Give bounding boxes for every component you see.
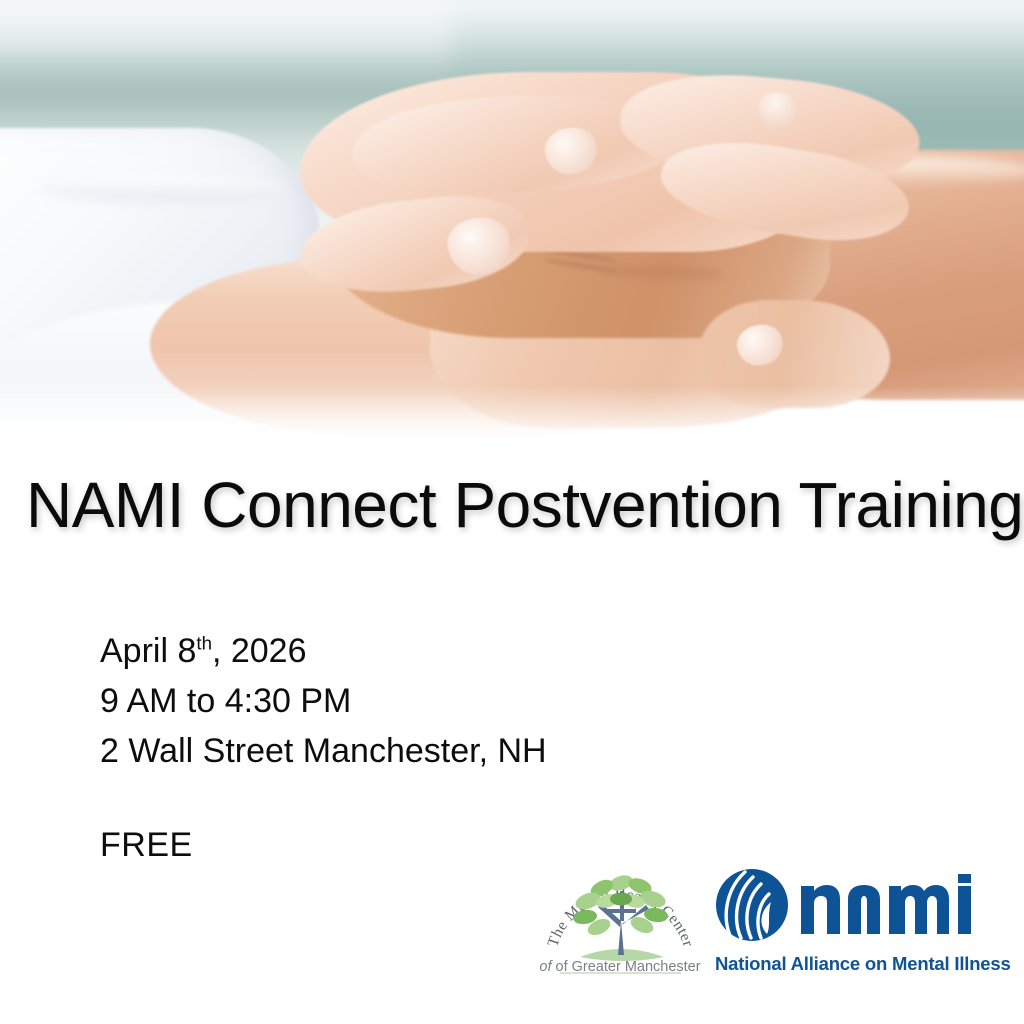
event-details: April 8th, 2026 9 AM to 4:30 PM 2 Wall S… [100, 626, 547, 776]
nami-wordmark [801, 874, 977, 941]
event-date-ordinal: th [196, 633, 212, 654]
mhc-sub-text: of Greater Manchester [556, 959, 701, 975]
logo-branch [608, 909, 636, 913]
poster-canvas: NAMI Connect Postvention Training April … [0, 0, 1024, 1024]
event-date-prefix: April 8 [100, 632, 196, 670]
nami-flame-icon [715, 868, 789, 947]
page-title: NAMI Connect Postvention Training [26, 468, 1023, 542]
event-time: 9 AM to 4:30 PM [100, 676, 547, 726]
photo-bottom-fade [0, 386, 1024, 456]
event-date: April 8th, 2026 [100, 626, 547, 676]
svg-text:of of Greater Manchester: of of Greater Manchester [539, 959, 700, 975]
nami-tagline: National Alliance on Mental Illness [715, 953, 983, 975]
event-address: 2 Wall Street Manchester, NH [100, 726, 547, 776]
event-cost: FREE [100, 826, 193, 865]
mental-health-center-logo: The Mental Health Center [538, 855, 703, 980]
hero-photo [0, 0, 1024, 456]
sleeve-fold [40, 176, 290, 202]
event-date-year: , 2026 [212, 632, 307, 670]
nami-logo: National Alliance on Mental Illness [715, 868, 983, 980]
